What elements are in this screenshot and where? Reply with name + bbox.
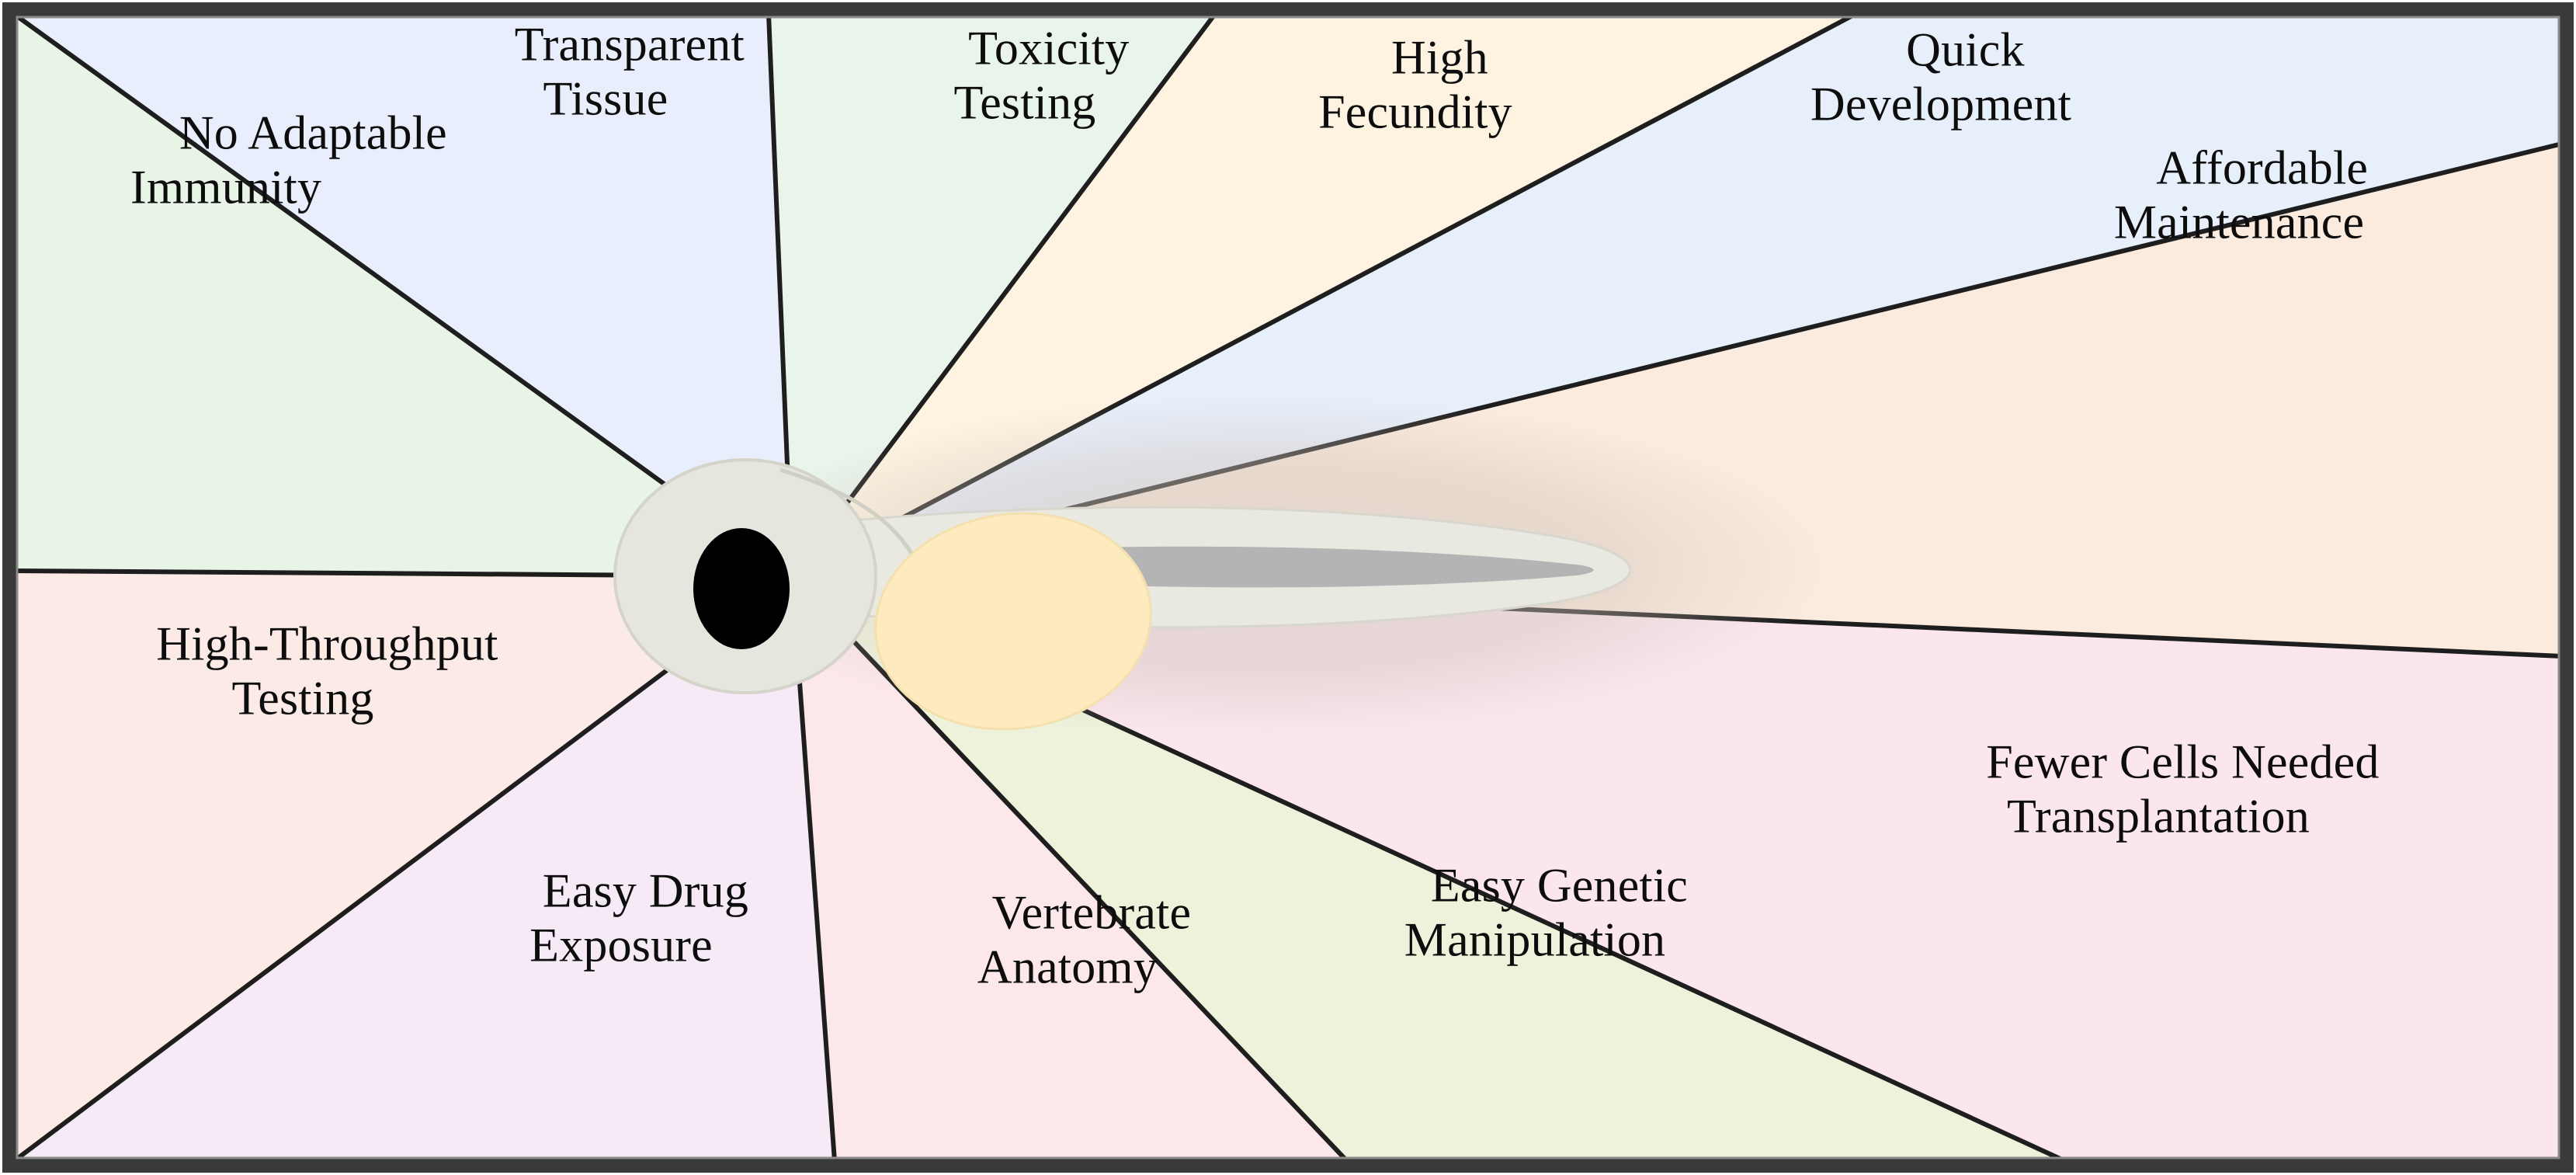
radial-advantages-diagram: No AdaptableImmunity TransparentTissue T…: [0, 0, 2576, 1175]
eye: [693, 528, 790, 649]
sector-wedges: [14, 14, 2562, 1161]
diagram-canvas: [0, 0, 2576, 1175]
